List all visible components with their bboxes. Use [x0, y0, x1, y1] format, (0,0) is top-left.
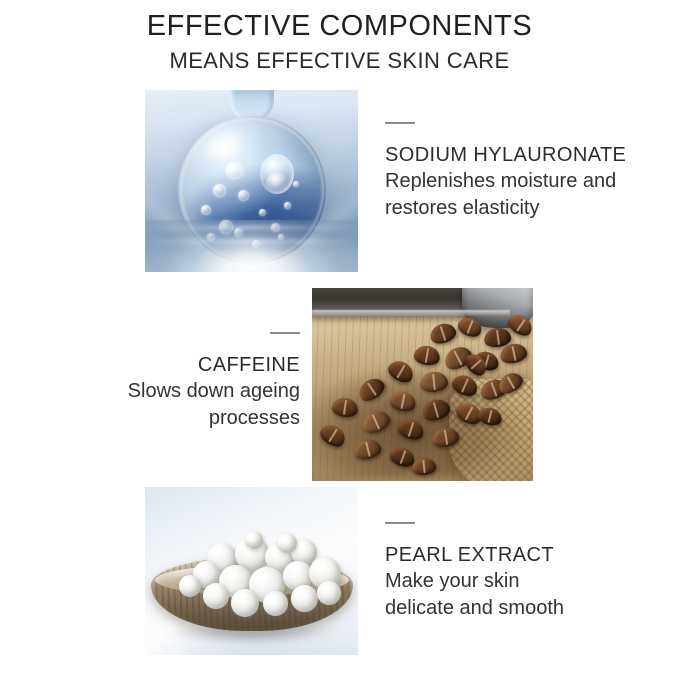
page-subtitle: MEANS EFFECTIVE SKIN CARE — [0, 47, 679, 75]
description-line: delicate and smooth — [385, 595, 655, 621]
ingredient-description: Replenishes moisture and restores elasti… — [385, 168, 655, 221]
section-pearl-extract-text: PEARL EXTRACT Make your skin delicate an… — [385, 522, 655, 621]
description-line: Slows down ageing — [60, 378, 300, 404]
ingredient-description: Make your skin delicate and smooth — [385, 568, 655, 621]
bubble-icon — [226, 162, 243, 179]
description-line: processes — [60, 405, 300, 431]
divider-dash — [385, 522, 415, 524]
infographic-canvas: EFFECTIVE COMPONENTS MEANS EFFECTIVE SKI… — [0, 0, 679, 679]
light-streak — [145, 226, 358, 229]
ingredient-name: SODIUM HYLAURONATE — [385, 142, 655, 168]
pearl — [263, 591, 288, 616]
description-line: Replenishes moisture and — [385, 168, 655, 194]
coffee-beans-image — [312, 288, 533, 481]
pearl — [317, 581, 341, 605]
description-line: Make your skin — [385, 568, 655, 594]
header: EFFECTIVE COMPONENTS MEANS EFFECTIVE SKI… — [0, 10, 679, 75]
light-streak — [145, 240, 358, 243]
section-sodium-hyaluronate-text: SODIUM HYLAURONATE Replenishes moisture … — [385, 122, 655, 221]
bubble-icon — [238, 190, 249, 201]
ingredient-name: CAFFEINE — [60, 352, 300, 378]
bubble-icon — [284, 202, 291, 209]
description-line: restores elasticity — [385, 195, 655, 221]
water-droplet-image — [145, 90, 358, 272]
ingredient-description: Slows down ageing processes — [60, 378, 300, 431]
scoop-lip — [312, 310, 510, 316]
droplet-floor-glow — [145, 220, 358, 272]
ingredient-name: PEARL EXTRACT — [385, 542, 655, 568]
divider-dash — [385, 122, 415, 124]
pearl-oyster-image — [145, 487, 358, 655]
pearl — [245, 531, 263, 549]
pearl — [179, 575, 201, 597]
pearl — [277, 533, 297, 553]
bubble-icon — [213, 184, 226, 197]
page-title: EFFECTIVE COMPONENTS — [0, 10, 679, 43]
pearl — [291, 585, 318, 612]
pearl — [203, 583, 229, 609]
section-caffeine-text: CAFFEINE Slows down ageing processes — [60, 332, 300, 431]
divider-dash — [270, 332, 300, 334]
pearl — [231, 589, 259, 617]
bubble-icon — [201, 205, 211, 215]
